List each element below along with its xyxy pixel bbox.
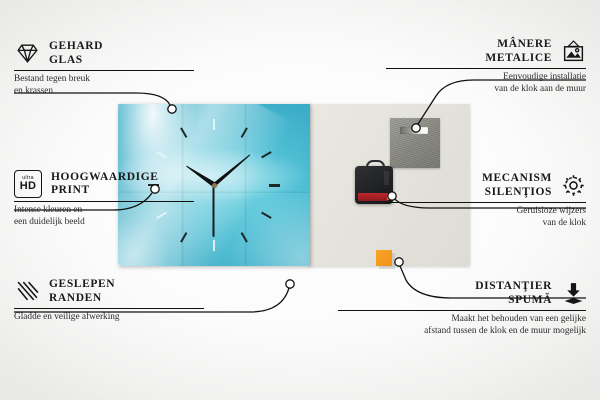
metal-hanger-plate — [390, 118, 440, 168]
gear-icon — [560, 173, 586, 199]
callout-title: DISTANŢIER SPUMĂ — [475, 280, 552, 307]
callout-divider — [386, 202, 586, 203]
clock-tick — [241, 127, 248, 138]
callout-desc-line2: en krassen — [14, 86, 194, 98]
callout-header: DISTANŢIER SPUMĂ — [338, 280, 586, 307]
callout-header: MÂNERE METALICE — [386, 38, 586, 65]
callout-title: MÂNERE METALICE — [485, 38, 552, 65]
callout-header: GESLEPEN RANDEN — [14, 278, 204, 305]
connector-dot-geslepen-randen — [286, 280, 294, 288]
ultra-hd-icon: ultra HD — [14, 170, 42, 198]
callout-distantier-spuma: DISTANŢIER SPUMĂ Maakt het behouden van … — [338, 280, 586, 337]
callout-divider — [338, 310, 586, 311]
callout-desc-line1: Gladde en veilige afwerking — [14, 312, 204, 324]
callout-desc-line2: afstand tussen de klok en de muur mogeli… — [338, 326, 586, 338]
callout-header: GEHARD GLAS — [14, 40, 194, 67]
picture-hanger-icon — [560, 39, 586, 65]
callout-mecanism-silentios: MECANISM SILENŢIOS Geruisloze wijzers va… — [386, 172, 586, 229]
clock-tick — [213, 240, 215, 251]
callout-hoogwaardige-print: ultra HD HOOGWAARDIGE PRINT Intense kleu… — [14, 170, 194, 228]
callout-divider — [14, 70, 194, 71]
callout-desc-line2: van de klok — [386, 218, 586, 230]
callout-header: ultra HD HOOGWAARDIGE PRINT — [14, 170, 194, 198]
callout-desc-line1: Geruisloze wijzers — [386, 206, 586, 218]
clock-tick — [241, 232, 248, 243]
hanger-slot — [400, 127, 428, 134]
foam-spacer-icon — [560, 281, 586, 307]
diamond-icon — [14, 41, 40, 67]
callout-desc-line1: Intense kleuren en — [14, 205, 194, 217]
clock-second-hand — [213, 185, 215, 237]
callout-desc-line1: Bestand tegen breuk — [14, 74, 194, 86]
callout-desc-line1: Maakt het behouden van een gelijke — [338, 314, 586, 326]
clock-tick — [180, 127, 187, 138]
clock-tick — [269, 184, 280, 187]
callout-title: GEHARD GLAS — [49, 40, 103, 67]
clock-tick — [213, 119, 215, 130]
mechanism-hanging-loop — [366, 160, 385, 171]
callout-divider — [14, 201, 194, 202]
ultra-hd-icon-main-label: HD — [20, 181, 37, 192]
battery — [358, 193, 388, 201]
callout-header: MECANISM SILENŢIOS — [386, 172, 586, 199]
clock-tick — [180, 232, 187, 243]
callout-desc-line1: Eenvoudige installatie — [386, 72, 586, 84]
callout-manere-metalice: MÂNERE METALICE Eenvoudige installatie v… — [386, 38, 586, 95]
callout-title: MECANISM SILENŢIOS — [482, 172, 552, 199]
callout-geslepen-randen: GESLEPEN RANDEN Gladde en veilige afwerk… — [14, 278, 204, 324]
beveled-edges-icon — [14, 279, 40, 305]
clock-tick — [261, 212, 272, 219]
clock-minute-hand — [213, 153, 252, 186]
clock-tick — [156, 151, 167, 158]
callout-title: HOOGWAARDIGE PRINT — [51, 171, 159, 198]
callout-divider — [386, 68, 586, 69]
infographic-canvas: GEHARD GLAS Bestand tegen breuk en krass… — [0, 0, 600, 400]
clock-tick — [261, 151, 272, 158]
callout-title: GESLEPEN RANDEN — [49, 278, 115, 305]
callout-desc-line2: van de klok aan de muur — [386, 84, 586, 96]
callout-gehard-glas: GEHARD GLAS Bestand tegen breuk en krass… — [14, 40, 194, 97]
clock-center-cap — [212, 183, 217, 188]
foam-spacer — [376, 250, 392, 266]
callout-desc-line2: een duidelijk beeld — [14, 217, 194, 229]
callout-divider — [14, 308, 204, 309]
